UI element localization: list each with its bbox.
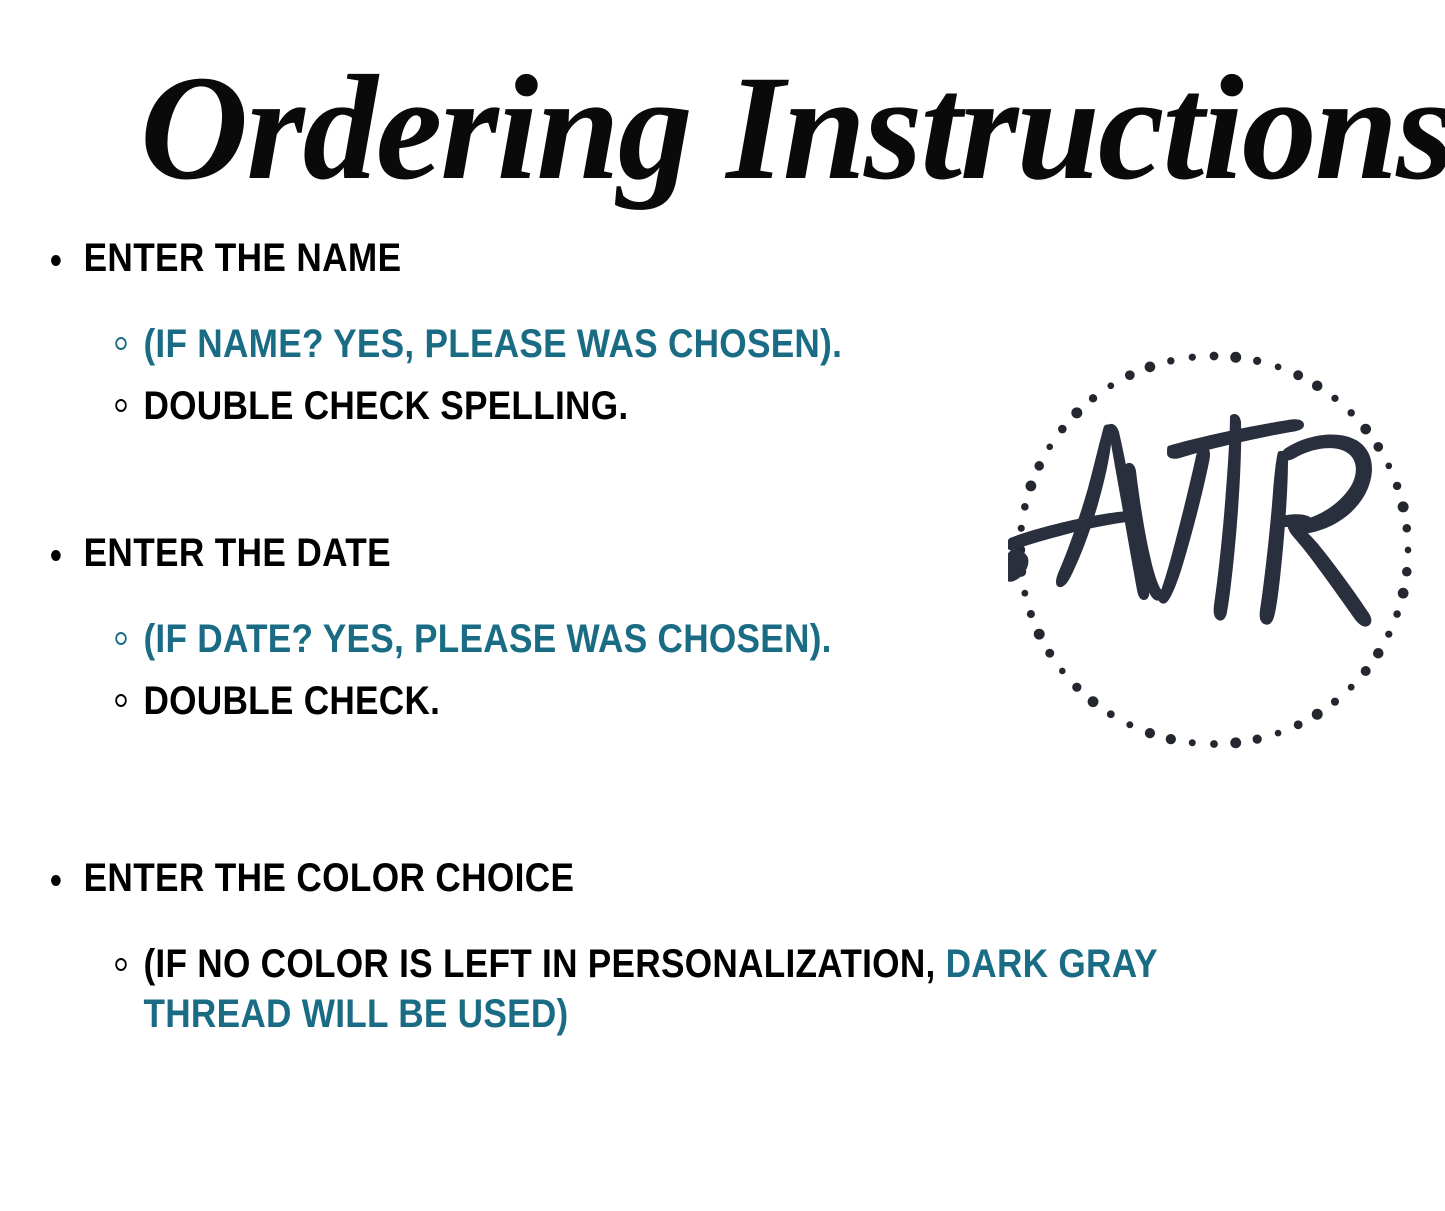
instruction-subitem-label: (IF DATE? YES, PLEASE WAS CHOSEN).	[143, 617, 831, 661]
instruction-group-color: ENTER THE COLOR CHOICE (IF NO COLOR IS L…	[0, 858, 1445, 1039]
instruction-heading-label: ENTER THE NAME	[84, 236, 402, 280]
bullet-circle-icon	[115, 337, 126, 350]
bullet-disc-icon	[51, 550, 61, 561]
bullet-disc-icon	[51, 255, 61, 266]
instruction-subitem-label: DOUBLE CHECK.	[143, 679, 440, 723]
page-title-text: Ordering Instructions	[140, 45, 1445, 211]
avtr-logo-stamp	[1008, 340, 1420, 760]
instruction-subitem-color-default: (IF NO COLOR IS LEFT IN PERSONALIZATION,…	[0, 940, 1272, 1039]
instruction-heading-label: ENTER THE COLOR CHOICE	[84, 856, 575, 900]
page-title: Ordering Instructions	[140, 46, 1320, 216]
instruction-heading-color: ENTER THE COLOR CHOICE	[0, 858, 1272, 898]
instruction-heading-name: ENTER THE NAME	[0, 238, 1272, 278]
instruction-subitem-label: DOUBLE CHECK SPELLING.	[143, 384, 628, 428]
bullet-disc-icon	[51, 875, 61, 886]
bullet-circle-icon	[115, 958, 126, 971]
bullet-circle-icon	[115, 694, 126, 707]
bullet-circle-icon	[115, 399, 126, 412]
instructions-page: Ordering Instructions ENTER THE NAME (IF…	[0, 0, 1445, 1211]
instruction-heading-label: ENTER THE DATE	[84, 531, 391, 575]
bullet-circle-icon	[115, 632, 126, 645]
avtr-monogram-icon	[1008, 414, 1372, 627]
instruction-subitem-label: (IF NAME? YES, PLEASE WAS CHOSEN).	[143, 322, 842, 366]
instruction-subitem-label-black: (IF NO COLOR IS LEFT IN PERSONALIZATION,	[143, 942, 945, 986]
